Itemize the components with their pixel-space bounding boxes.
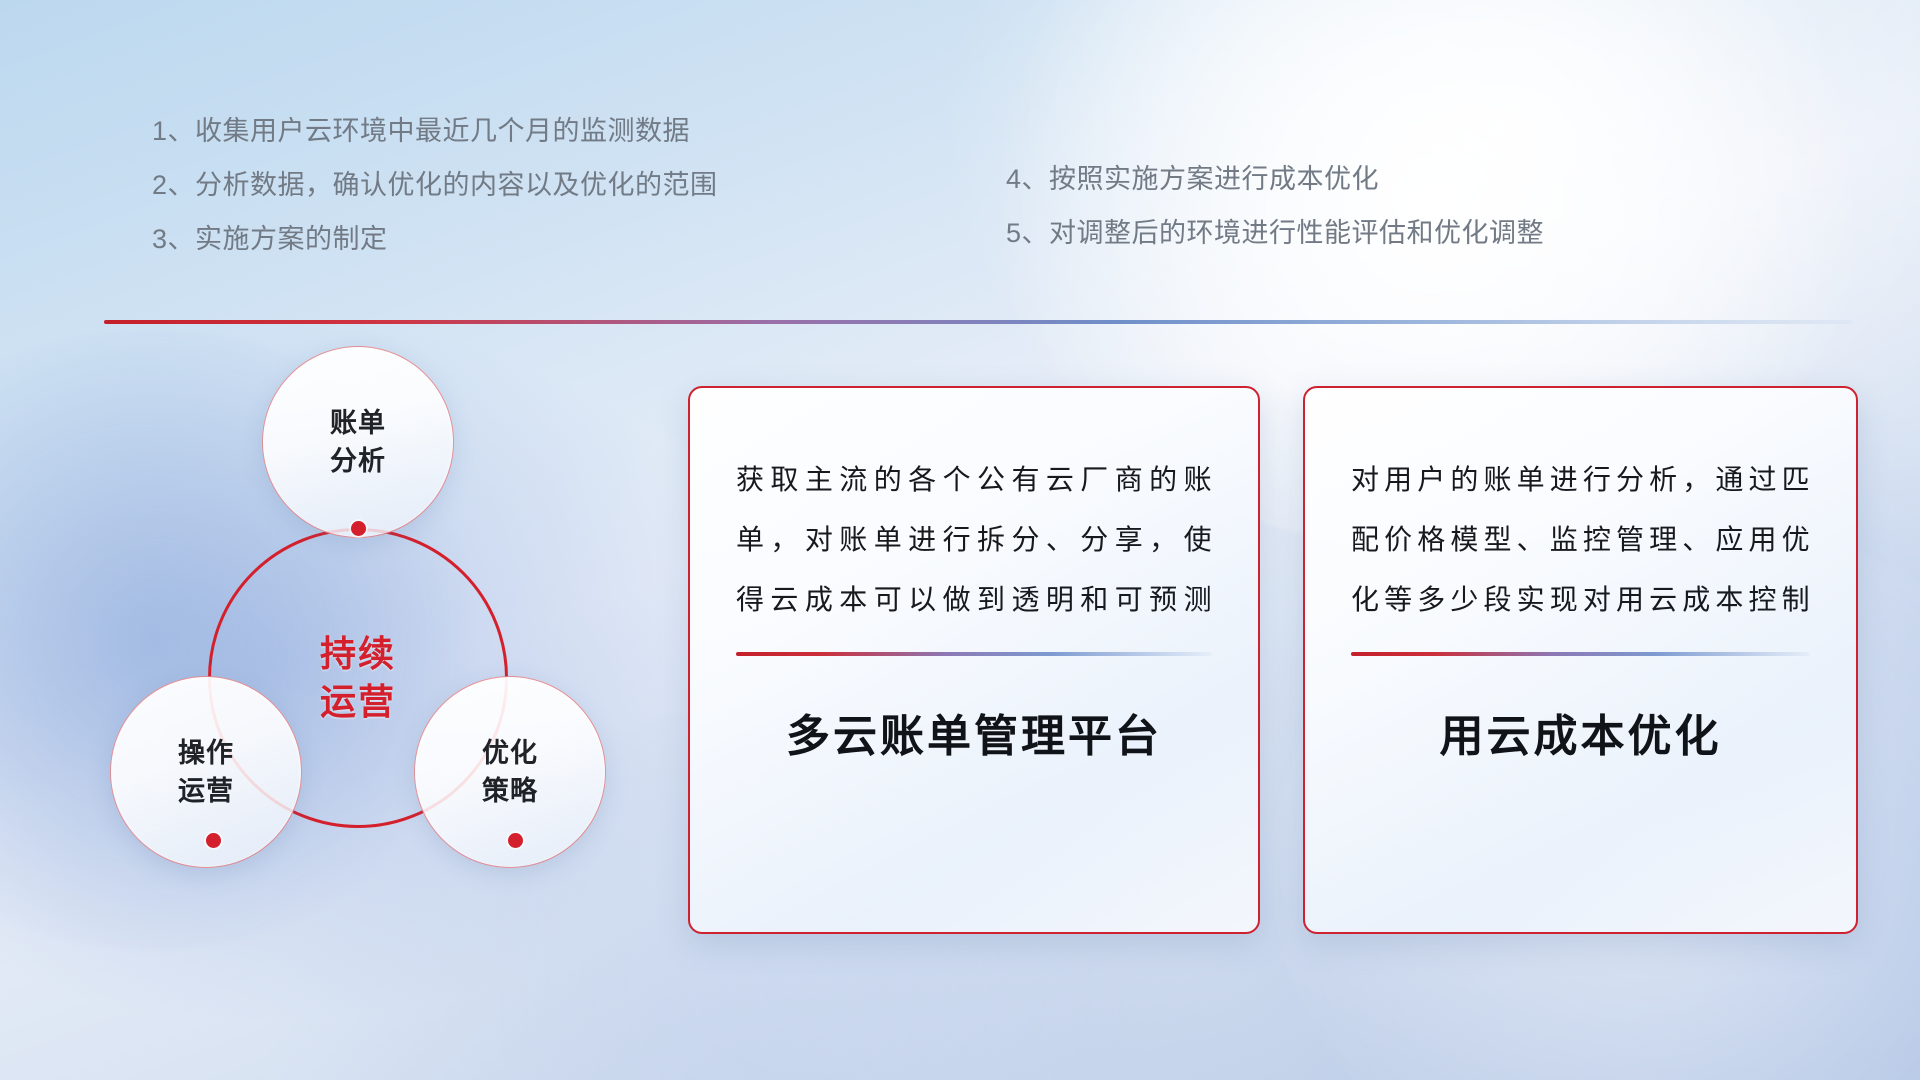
step-item-2: 2、分析数据，确认优化的内容以及优化的范围 <box>152 158 718 212</box>
card-multi-cloud-billing-platform[interactable]: 获取主流的各个公有云厂商的账 单，对账单进行拆分、分享，使 得云成本可以做到透明… <box>688 386 1260 934</box>
card-body-line-3: 化等多少段实现对用云成本控制 <box>1351 570 1810 630</box>
section-divider <box>104 320 1852 324</box>
step-item-5: 5、对调整后的环境进行性能评估和优化调整 <box>1006 206 1544 260</box>
card-body-line-2: 配价格模型、监控管理、应用优 <box>1351 510 1810 570</box>
venn-node-dot-top <box>351 521 366 536</box>
card-body-text: 获取主流的各个公有云厂商的账 单，对账单进行拆分、分享，使 得云成本可以做到透明… <box>736 450 1212 630</box>
step-item-3: 3、实施方案的制定 <box>152 212 718 266</box>
card-title: 用云成本优化 <box>1351 700 1810 764</box>
card-body-text: 对用户的账单进行分析，通过匹 配价格模型、监控管理、应用优 化等多少段实现对用云… <box>1351 450 1810 630</box>
venn-bubble-line-2: 分析 <box>330 442 386 480</box>
card-body-line-1: 对用户的账单进行分析，通过匹 <box>1351 450 1810 510</box>
card-title: 多云账单管理平台 <box>736 700 1212 764</box>
card-body-line-1: 获取主流的各个公有云厂商的账 <box>736 450 1212 510</box>
card-accent-rule <box>1351 652 1810 656</box>
step-item-1: 1、收集用户云环境中最近几个月的监测数据 <box>152 104 718 158</box>
step-item-4: 4、按照实施方案进行成本优化 <box>1006 152 1544 206</box>
venn-center-line-2: 运营 <box>320 678 396 726</box>
venn-bubble-line-1: 账单 <box>330 404 386 442</box>
venn-diagram: 账单 分析 操作 运营 优化 策略 持续 运营 <box>96 346 636 946</box>
venn-node-dot-right <box>508 833 523 848</box>
slide-canvas: 1、收集用户云环境中最近几个月的监测数据 2、分析数据，确认优化的内容以及优化的… <box>0 0 1920 1080</box>
venn-center-label: 持续 运营 <box>208 528 508 828</box>
venn-center-line-1: 持续 <box>320 630 396 678</box>
venn-node-dot-left <box>206 833 221 848</box>
steps-list-left: 1、收集用户云环境中最近几个月的监测数据 2、分析数据，确认优化的内容以及优化的… <box>152 104 718 266</box>
venn-bubble-billing-analysis[interactable]: 账单 分析 <box>262 346 454 538</box>
card-body-line-3: 得云成本可以做到透明和可预测 <box>736 570 1212 630</box>
card-accent-rule <box>736 652 1212 656</box>
card-body-line-2: 单，对账单进行拆分、分享，使 <box>736 510 1212 570</box>
steps-list-right: 4、按照实施方案进行成本优化 5、对调整后的环境进行性能评估和优化调整 <box>1006 152 1544 260</box>
card-cloud-cost-optimization[interactable]: 对用户的账单进行分析，通过匹 配价格模型、监控管理、应用优 化等多少段实现对用云… <box>1303 386 1858 934</box>
